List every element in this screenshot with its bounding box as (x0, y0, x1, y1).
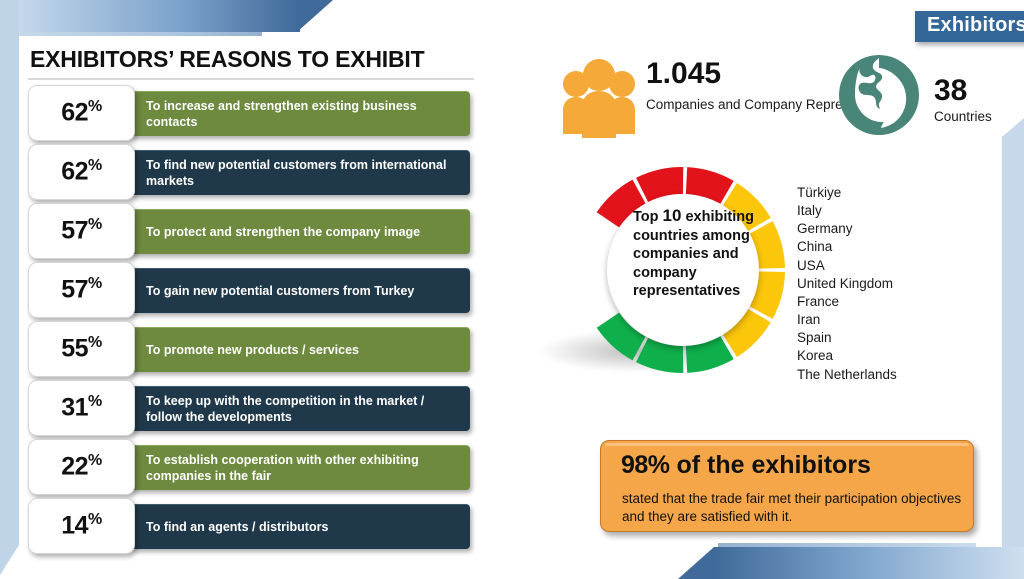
reason-bar: To protect and strengthen the company im… (130, 209, 470, 254)
reason-percent-card: 22% (28, 439, 135, 495)
reason-bar-label: To increase and strengthen existing busi… (130, 98, 470, 130)
country-list-item: The Netherlands (797, 366, 897, 384)
reason-bar-label: To promote new products / services (130, 342, 369, 358)
top-banner-decoration (0, 0, 300, 32)
exhibitors-badge: Exhibitors (915, 11, 1024, 42)
reason-bar: To find new potential customers from int… (130, 150, 470, 195)
reason-row: To increase and strengthen existing busi… (0, 85, 500, 141)
bottom-banner-tip-decoration (678, 547, 714, 579)
country-list-item: China (797, 238, 897, 256)
callout-headline: 98% of the exhibitors (621, 451, 871, 480)
reason-percent-value: 31% (61, 393, 102, 422)
reason-percent-value: 55% (61, 334, 102, 363)
donut-label-number: 10 (663, 206, 682, 225)
callout-headline-rest: of the exhibitors (670, 451, 871, 479)
reason-percent-value: 62% (61, 98, 102, 127)
reasons-list: To increase and strengthen existing busi… (0, 85, 500, 557)
reason-percent-card: 31% (28, 380, 135, 436)
top-banner-underline-decoration (0, 32, 262, 36)
reason-row: To find new potential customers from int… (0, 144, 500, 200)
page-title: EXHIBITORS’ REASONS TO EXHIBIT (30, 46, 424, 73)
country-list-item: Korea (797, 347, 897, 365)
country-list-item: Italy (797, 202, 897, 220)
people-icon (556, 56, 642, 138)
companies-count: 1.045 (646, 57, 721, 91)
countries-count: 38 (934, 74, 967, 108)
title-divider (28, 78, 474, 80)
right-edge-strip-tip-decoration (1002, 118, 1024, 137)
infographic-slide: Exhibitors EXHIBITORS’ REASONS TO EXHIBI… (0, 0, 1024, 579)
reason-row: To gain new potential customers from Tur… (0, 262, 500, 318)
reason-percent-value: 57% (61, 216, 102, 245)
country-list-item: Türkiye (797, 184, 897, 202)
reason-percent-card: 62% (28, 85, 135, 141)
reason-row: To establish cooperation with other exhi… (0, 439, 500, 495)
country-list-item: Iran (797, 311, 897, 329)
donut-label-lead: Top (633, 209, 663, 225)
reason-bar-label: To find an agents / distributors (130, 519, 338, 535)
bottom-banner-decoration (714, 547, 1024, 579)
reason-bar-label: To gain new potential customers from Tur… (130, 283, 424, 299)
reason-percent-value: 62% (61, 157, 102, 186)
bottom-banner-overline-decoration (718, 543, 976, 547)
country-list-item: Spain (797, 329, 897, 347)
reason-bar-label: To keep up with the competition in the m… (130, 393, 470, 425)
reason-row: To find an agents / distributors14% (0, 498, 500, 554)
country-list-item: United Kingdom (797, 275, 897, 293)
reason-bar: To keep up with the competition in the m… (130, 386, 470, 431)
reason-bar: To promote new products / services (130, 327, 470, 372)
reason-percent-card: 57% (28, 262, 135, 318)
top-banner-tip-decoration (297, 0, 333, 32)
reason-percent-value: 57% (61, 275, 102, 304)
country-list-item: Germany (797, 220, 897, 238)
reason-row: To promote new products / services55% (0, 321, 500, 377)
globe-icon (836, 52, 922, 138)
reason-row: To keep up with the competition in the m… (0, 380, 500, 436)
reason-bar: To find an agents / distributors (130, 504, 470, 549)
reason-percent-card: 62% (28, 144, 135, 200)
reason-percent-value: 22% (61, 452, 102, 481)
reason-percent-card: 57% (28, 203, 135, 259)
reason-bar-label: To establish cooperation with other exhi… (130, 452, 470, 484)
reason-percent-card: 55% (28, 321, 135, 377)
country-list-item: USA (797, 257, 897, 275)
right-edge-strip-decoration (1002, 136, 1024, 579)
donut-center-label: Top 10 exhibiting countries among compan… (633, 205, 771, 301)
reason-bar-label: To protect and strengthen the company im… (130, 224, 430, 240)
satisfaction-callout: 98% of the exhibitors stated that the tr… (600, 440, 974, 532)
country-list: TürkiyeItalyGermanyChinaUSAUnited Kingdo… (797, 184, 897, 384)
reason-row: To protect and strengthen the company im… (0, 203, 500, 259)
reason-bar: To establish cooperation with other exhi… (130, 445, 470, 490)
reason-percent-card: 14% (28, 498, 135, 554)
callout-highlight-decoration (605, 443, 969, 446)
callout-body-text: stated that the trade fair met their par… (622, 490, 962, 526)
reason-percent-value: 14% (61, 511, 102, 540)
reason-bar: To increase and strengthen existing busi… (130, 91, 470, 136)
countries-count-label: Countries (934, 109, 992, 124)
reason-bar-label: To find new potential customers from int… (130, 157, 470, 189)
reason-bar: To gain new potential customers from Tur… (130, 268, 470, 313)
country-list-item: France (797, 293, 897, 311)
callout-percent: 98% (621, 451, 670, 479)
